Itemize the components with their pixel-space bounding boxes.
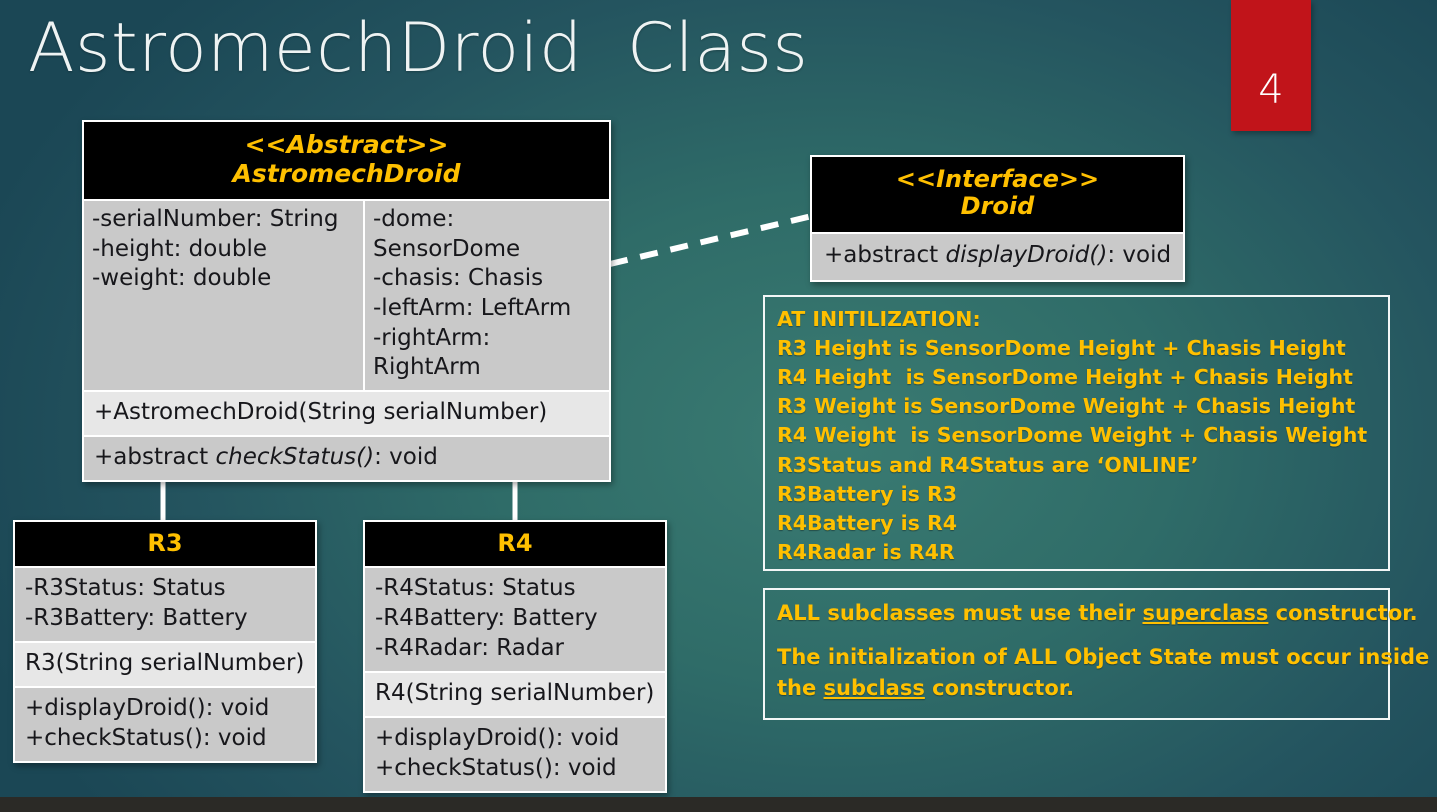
class-box-droid-interface[interactable]: <<Interface>> Droid +abstract displayDro… xyxy=(810,155,1185,282)
note-line: AT INITILIZATION: xyxy=(777,305,1376,334)
bottom-strip xyxy=(0,797,1437,812)
method-name-italic: displayDroid() xyxy=(946,242,1108,268)
note-line: R4Radar is R4R xyxy=(777,538,1376,567)
rule-text: constructor. xyxy=(1268,601,1417,625)
dashed-realization-line xyxy=(610,216,812,264)
note-rule-line-1: ALL subclasses must use their superclass… xyxy=(777,598,1376,628)
class-name: AstromechDroid xyxy=(88,160,605,189)
method-suffix: : void xyxy=(374,444,438,470)
class-header-astromech-droid: <<Abstract>> AstromechDroid xyxy=(84,122,609,199)
attributes-compartment: -serialNumber: String -height: double -w… xyxy=(84,201,609,390)
note-line: R4 Height is SensorDome Height + Chasis … xyxy=(777,363,1376,392)
class-box-astromech-droid[interactable]: <<Abstract>> AstromechDroid -serialNumbe… xyxy=(82,120,611,482)
note-rules: ALL subclasses must use their superclass… xyxy=(763,588,1390,720)
note-line: R3 Weight is SensorDome Weight + Chasis … xyxy=(777,392,1376,421)
note-spacer xyxy=(777,628,1376,642)
interface-name: Droid xyxy=(816,193,1179,220)
interface-methods-compartment: +abstract displayDroid(): void xyxy=(812,234,1183,280)
page-number-text: 4 xyxy=(1231,67,1311,113)
rule-underlined-superclass: superclass xyxy=(1142,601,1268,625)
rule-text: ALL subclasses must use their xyxy=(777,601,1142,625)
slide-canvas: AstromechDroid Class 4 <<Abstract>> Astr… xyxy=(0,0,1437,812)
note-initialization: AT INITILIZATION: R3 Height is SensorDom… xyxy=(763,295,1390,571)
methods-compartment: +abstract checkStatus(): void xyxy=(84,437,609,480)
method-prefix: +abstract xyxy=(824,242,946,268)
note-rule-line-2: The initialization of ALL Object State m… xyxy=(777,642,1376,672)
class-stereotype: <<Abstract>> xyxy=(88,131,605,160)
constructor-compartment: +AstromechDroid(String serialNumber) xyxy=(84,392,609,435)
note-rule-line-3: the subclass constructor. xyxy=(777,673,1376,703)
attributes-column-right: -dome: SensorDome -chasis: Chasis -leftA… xyxy=(365,201,609,390)
rule-text: constructor. xyxy=(925,676,1074,700)
note-line: R3 Height is SensorDome Height + Chasis … xyxy=(777,334,1376,363)
method-prefix: +abstract xyxy=(94,444,216,470)
constructor-compartment-r4: R4(String serialNumber) xyxy=(365,673,665,716)
note-line: R4 Weight is SensorDome Weight + Chasis … xyxy=(777,421,1376,450)
methods-compartment-r3: +displayDroid(): void +checkStatus(): vo… xyxy=(15,688,315,761)
attributes-column-left: -serialNumber: String -height: double -w… xyxy=(84,201,365,390)
page-number-badge: 4 xyxy=(1231,0,1311,131)
class-box-r3[interactable]: R3 -R3Status: Status -R3Battery: Battery… xyxy=(13,520,317,763)
note-line: R3Status and R4Status are ‘ONLINE’ xyxy=(777,451,1376,480)
interface-stereotype: <<Interface>> xyxy=(816,166,1179,193)
note-line: R3Battery is R3 xyxy=(777,480,1376,509)
rule-underlined-subclass: subclass xyxy=(824,676,925,700)
page-title: AstromechDroid Class xyxy=(28,9,808,88)
class-header-r3: R3 xyxy=(15,522,315,566)
class-box-r4[interactable]: R4 -R4Status: Status -R4Battery: Battery… xyxy=(363,520,667,793)
method-name-italic: checkStatus() xyxy=(216,444,375,470)
methods-compartment-r4: +displayDroid(): void +checkStatus(): vo… xyxy=(365,718,665,791)
attributes-compartment-r3: -R3Status: Status -R3Battery: Battery xyxy=(15,568,315,641)
method-suffix: : void xyxy=(1107,242,1171,268)
constructor-compartment-r3: R3(String serialNumber) xyxy=(15,643,315,686)
attributes-compartment-r4: -R4Status: Status -R4Battery: Battery -R… xyxy=(365,568,665,671)
rule-text: the xyxy=(777,676,824,700)
class-header-r4: R4 xyxy=(365,522,665,566)
interface-header-droid: <<Interface>> Droid xyxy=(812,157,1183,232)
note-line: R4Battery is R4 xyxy=(777,509,1376,538)
